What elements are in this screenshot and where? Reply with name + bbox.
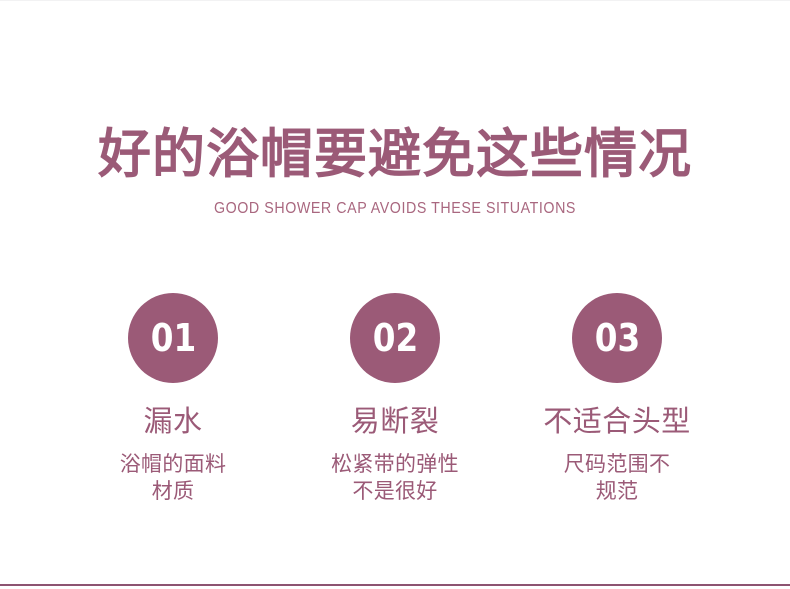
situation-description-02: 松紧带的弹性 不是很好 [331,451,459,505]
situation-description-line-2: 规范 [564,478,671,505]
badge-number-label: 01 [150,319,195,357]
situation-description-line-1: 尺码范围不 [564,451,671,478]
situations-list: 01 漏水 浴帽的面料 材质 02 易断裂 松紧带的弹性 不是很好 03 不适合… [0,293,790,505]
situation-description-line-1: 浴帽的面料 [120,451,227,478]
situation-description-line-2: 材质 [120,478,227,505]
top-hairline-divider [0,0,790,1]
badge-number-label: 02 [372,319,417,357]
situation-item-01: 01 漏水 浴帽的面料 材质 [62,293,284,505]
number-badge-01: 01 [128,293,218,383]
promo-page: 好的浴帽要避免这些情况 GOOD SHOWER CAP AVOIDS THESE… [0,0,790,589]
situation-item-02: 02 易断裂 松紧带的弹性 不是很好 [284,293,506,505]
situation-title-02: 易断裂 [351,404,440,438]
situation-description-03: 尺码范围不 规范 [564,451,671,505]
situation-item-03: 03 不适合头型 尺码范围不 规范 [506,293,728,505]
badge-number-label: 03 [594,319,639,357]
situation-title-01: 漏水 [143,404,202,438]
number-badge-02: 02 [350,293,440,383]
situation-description-line-1: 松紧带的弹性 [331,451,459,478]
bottom-divider-rule [0,584,790,586]
situation-title-03: 不适合头型 [543,404,691,438]
page-title: 好的浴帽要避免这些情况 [0,124,790,186]
situation-description-01: 浴帽的面料 材质 [120,451,227,505]
page-header: 好的浴帽要避免这些情况 GOOD SHOWER CAP AVOIDS THESE… [0,124,790,219]
page-subtitle: GOOD SHOWER CAP AVOIDS THESE SITUATIONS [32,199,759,219]
situation-description-line-2: 不是很好 [331,478,459,505]
number-badge-03: 03 [572,293,662,383]
